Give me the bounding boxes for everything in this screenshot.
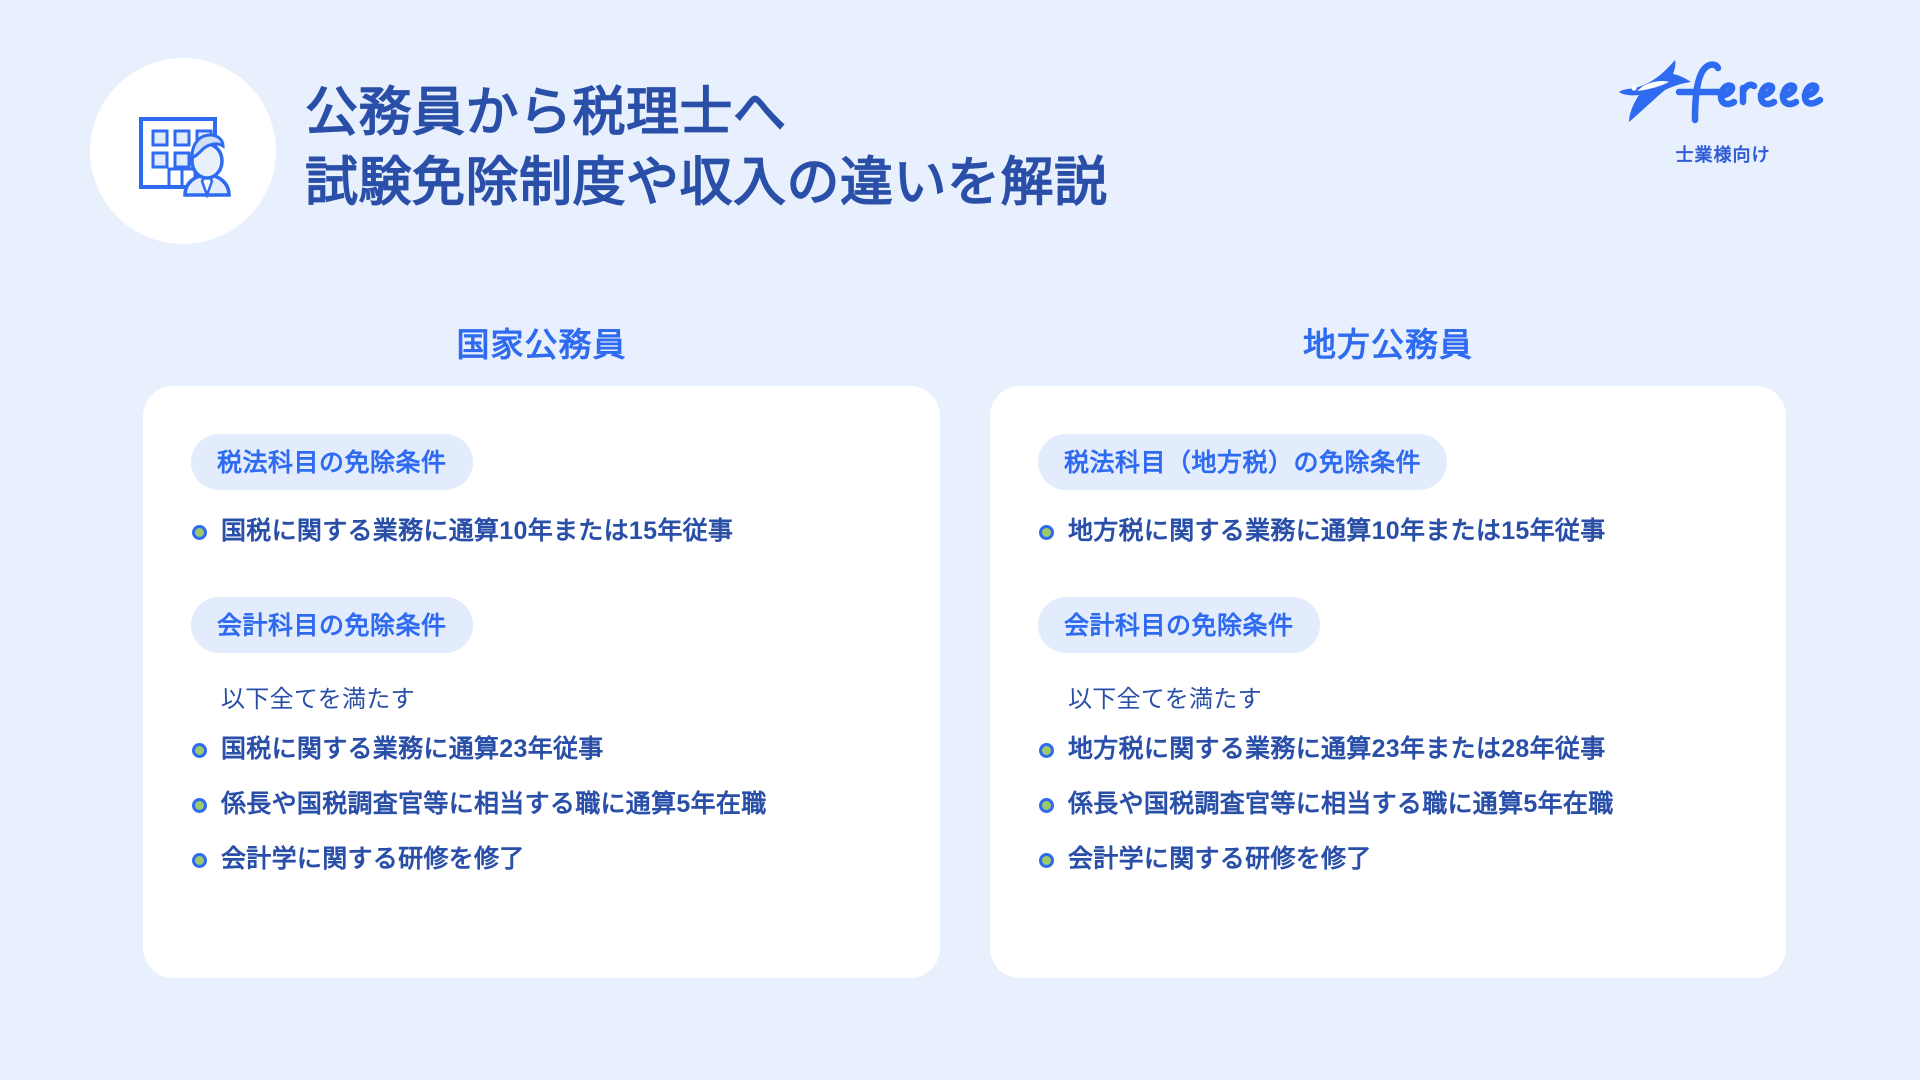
list-item-label: 地方税に関する業務に通算10年または15年従事 [1068,517,1606,545]
note-all-conditions: 以下全てを満たす [221,679,900,714]
section-tax-law-exemption: 税法科目の免除条件 国税に関する業務に通算10年または15年従事 [191,434,900,549]
bullet-dot-icon [192,525,207,540]
bullet-dot-icon [1039,743,1054,758]
badge-tax-law-local-exemption: 税法科目（地方税）の免除条件 [1038,434,1447,490]
header-icon-circle [90,58,276,244]
badge-tax-law-exemption: 税法科目の免除条件 [191,434,473,490]
list-item: 会計学に関する研修を修了 [1038,842,1746,877]
page-title-line-2: 試験免除制度や収入の違いを解説 [305,148,1505,218]
bullet-dot-icon [1039,525,1054,540]
logo-caption: 士業様向け [1676,141,1771,167]
page-title-line-1: 公務員から税理士へ [305,78,1505,148]
bullet-list-accounting: 国税に関する業務に通算23年従事 係長や国税調査官等に相当する職に通算5年在職 … [191,732,900,877]
page-title: 公務員から税理士へ 試験免除制度や収入の違いを解説 [305,78,1505,218]
note-all-conditions: 以下全てを満たす [1068,679,1746,714]
card-local-public-servant: 税法科目（地方税）の免除条件 地方税に関する業務に通算10年または15年従事 会… [990,386,1786,978]
bullet-dot-icon [1039,798,1054,813]
bullet-list-tax-law: 国税に関する業務に通算10年または15年従事 [191,514,900,549]
bullet-list-accounting-local: 地方税に関する業務に通算23年または28年従事 係長や国税調査官等に相当する職に… [1038,732,1746,877]
list-item-label: 会計学に関する研修を修了 [1068,845,1372,873]
list-item: 国税に関する業務に通算23年従事 [191,732,900,767]
list-item: 地方税に関する業務に通算10年または15年従事 [1038,514,1746,549]
list-item: 会計学に関する研修を修了 [191,842,900,877]
government-building-officer-icon [127,95,239,207]
bullet-dot-icon [192,853,207,868]
list-item-label: 国税に関する業務に通算10年または15年従事 [221,517,733,545]
section-tax-law-local-exemption: 税法科目（地方税）の免除条件 地方税に関する業務に通算10年または15年従事 [1038,434,1746,549]
freee-wordmark [1679,65,1820,120]
list-item-label: 国税に関する業務に通算23年従事 [221,735,604,763]
bullet-dot-icon [192,743,207,758]
section-accounting-exemption-local: 会計科目の免除条件 以下全てを満たす 地方税に関する業務に通算23年または28年… [1038,597,1746,877]
list-item: 国税に関する業務に通算10年または15年従事 [191,514,900,549]
column-heading-local: 地方公務員 [990,318,1786,366]
freee-wordmark-with-bird-icon [1617,50,1829,131]
list-item-label: 係長や国税調査官等に相当する職に通算5年在職 [1068,790,1614,818]
header: 公務員から税理士へ 試験免除制度や収入の違いを解説 [0,0,1920,300]
badge-accounting-exemption-local: 会計科目の免除条件 [1038,597,1320,653]
badge-accounting-exemption: 会計科目の免除条件 [191,597,473,653]
list-item: 係長や国税調査官等に相当する職に通算5年在職 [191,787,900,822]
column-heading-national: 国家公務員 [143,318,940,366]
list-item: 係長や国税調査官等に相当する職に通算5年在職 [1038,787,1746,822]
list-item-label: 会計学に関する研修を修了 [221,845,525,873]
list-item-label: 係長や国税調査官等に相当する職に通算5年在職 [221,790,767,818]
bullet-dot-icon [1039,853,1054,868]
list-item-label: 地方税に関する業務に通算23年または28年従事 [1068,735,1606,763]
bullet-list-tax-law-local: 地方税に関する業務に通算10年または15年従事 [1038,514,1746,549]
list-item: 地方税に関する業務に通算23年または28年従事 [1038,732,1746,767]
section-accounting-exemption: 会計科目の免除条件 以下全てを満たす 国税に関する業務に通算23年従事 係長や国… [191,597,900,877]
card-national-public-servant: 税法科目の免除条件 国税に関する業務に通算10年または15年従事 会計科目の免除… [143,386,940,978]
bullet-dot-icon [192,798,207,813]
freee-logo: 士業様向け [1598,50,1848,167]
